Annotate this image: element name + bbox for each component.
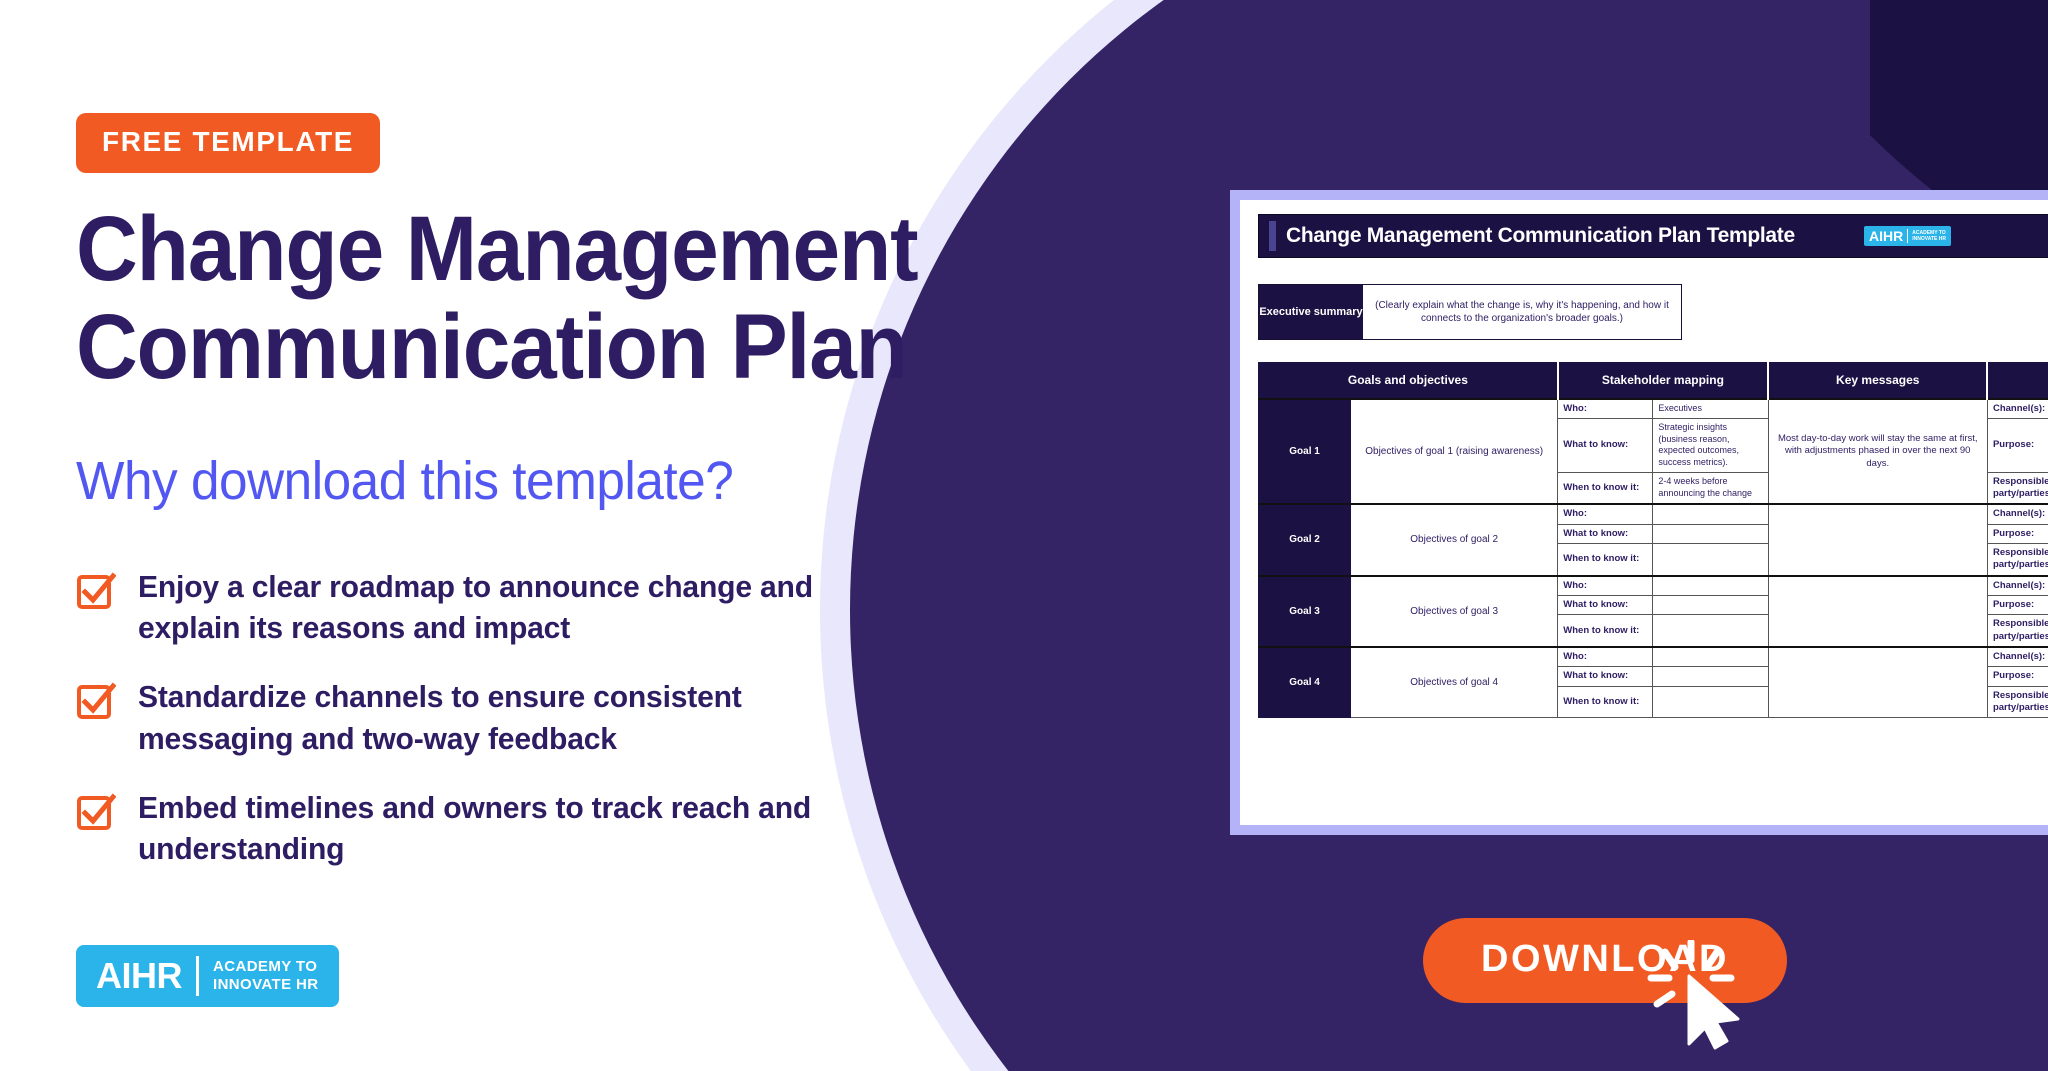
template-preview-inner: Change Management Communication Plan Tem… xyxy=(1240,200,2048,825)
column-header-channels: Communication channels xyxy=(1987,363,2048,399)
list-item: Standardize channels to ensure consisten… xyxy=(76,676,1136,758)
stakeholder-value-when[interactable] xyxy=(1653,615,1768,647)
promo-banner: FREE TEMPLATE Change Management Communic… xyxy=(0,0,2048,1071)
stakeholder-value-when[interactable] xyxy=(1653,686,1768,718)
stakeholder-value-what[interactable]: Strategic insights (business reason, exp… xyxy=(1653,418,1768,472)
left-content-column: FREE TEMPLATE Change Management Communic… xyxy=(76,0,1136,1071)
list-item-label: Enjoy a clear roadmap to announce change… xyxy=(138,566,817,648)
template-header-accent xyxy=(1269,221,1276,251)
stakeholder-value-who[interactable] xyxy=(1653,504,1768,524)
stakeholder-label-when: When to know it: xyxy=(1558,543,1653,575)
page-title-line1: Change Management xyxy=(76,201,1062,299)
stakeholder-label-who: Who: xyxy=(1558,399,1653,419)
background-corner-navy xyxy=(1870,0,2048,216)
page-title: Change Management Communication Plan xyxy=(76,201,1062,396)
stakeholder-value-when[interactable]: 2-4 weeks before announcing the change xyxy=(1653,472,1768,504)
goal-objectives[interactable]: Objectives of goal 4 xyxy=(1351,647,1558,718)
table-header-row: Goals and objectives Stakeholder mapping… xyxy=(1259,363,2048,399)
free-template-badge: FREE TEMPLATE xyxy=(76,113,380,173)
stakeholder-value-what[interactable] xyxy=(1653,667,1768,686)
stakeholder-label-when: When to know it: xyxy=(1558,615,1653,647)
column-header-goals: Goals and objectives xyxy=(1259,363,1558,399)
stakeholder-value-what[interactable] xyxy=(1653,596,1768,615)
stakeholder-value-who[interactable] xyxy=(1653,576,1768,596)
checkbox-checked-icon xyxy=(76,793,116,833)
stakeholder-label-who: Who: xyxy=(1558,647,1653,667)
aihr-logo-divider xyxy=(196,956,199,996)
channel-label-channels: Channel(s): xyxy=(1987,647,2048,667)
stakeholder-value-when[interactable] xyxy=(1653,543,1768,575)
list-item: Embed timelines and owners to track reac… xyxy=(76,787,1136,869)
table-row: Goal 3 Objectives of goal 3 Who: Channel… xyxy=(1259,576,2048,596)
channel-label-responsible: Responsible party/parties: xyxy=(1987,472,2048,504)
goal-label: Goal 4 xyxy=(1259,647,1351,718)
benefits-list: Enjoy a clear roadmap to announce change… xyxy=(76,566,1136,869)
communication-plan-table: Goals and objectives Stakeholder mapping… xyxy=(1258,362,2048,718)
template-aihr-divider xyxy=(1907,229,1908,243)
channel-label-purpose: Purpose: xyxy=(1987,524,2048,543)
checkbox-checked-icon xyxy=(76,572,116,612)
list-item-label: Standardize channels to ensure consisten… xyxy=(138,676,817,758)
table-row: Goal 4 Objectives of goal 4 Who: Channel… xyxy=(1259,647,2048,667)
table-row: Goal 2 Objectives of goal 2 Who: Channel… xyxy=(1259,504,2048,524)
stakeholder-label-who: Who: xyxy=(1558,576,1653,596)
goal-label: Goal 2 xyxy=(1259,504,1351,575)
stakeholder-label-what: What to know: xyxy=(1558,418,1653,472)
template-aihr-mark: AIHR xyxy=(1869,229,1903,243)
template-preview-card[interactable]: Change Management Communication Plan Tem… xyxy=(1230,190,2048,835)
stakeholder-value-who[interactable]: Executives xyxy=(1653,399,1768,419)
key-message-value[interactable] xyxy=(1768,576,1987,647)
key-message-value[interactable]: Most day-to-day work will stay the same … xyxy=(1768,399,1987,505)
channel-label-channels: Channel(s): xyxy=(1987,504,2048,524)
template-aihr-logo: AIHR ACADEMY TO INNOVATE HR xyxy=(1864,226,1951,246)
channel-label-channels: Channel(s): xyxy=(1987,576,2048,596)
goal-label: Goal 1 xyxy=(1259,399,1351,505)
stakeholder-value-what[interactable] xyxy=(1653,524,1768,543)
channel-label-channels: Channel(s): xyxy=(1987,399,2048,419)
goal-objectives[interactable]: Objectives of goal 1 (raising awareness) xyxy=(1351,399,1558,505)
list-item-label: Embed timelines and owners to track reac… xyxy=(138,787,817,869)
executive-summary-label: Executive summary xyxy=(1259,285,1363,339)
list-item: Enjoy a clear roadmap to announce change… xyxy=(76,566,1136,648)
key-message-value[interactable] xyxy=(1768,647,1987,718)
channel-label-purpose: Purpose: xyxy=(1987,596,2048,615)
column-header-key-messages: Key messages xyxy=(1768,363,1987,399)
executive-summary-value[interactable]: (Clearly explain what the change is, why… xyxy=(1363,285,1681,339)
stakeholder-label-when: When to know it: xyxy=(1558,472,1653,504)
aihr-logo-tagline-line2: INNOVATE HR xyxy=(213,976,319,994)
checkbox-checked-icon xyxy=(76,682,116,722)
download-cta: DOWNLOAD xyxy=(1423,918,1787,1003)
aihr-logo: AIHR ACADEMY TO INNOVATE HR xyxy=(76,945,339,1007)
background-corner-clip xyxy=(1870,0,2048,216)
channel-label-responsible: Responsible party/parties: xyxy=(1987,543,2048,575)
stakeholder-label-when: When to know it: xyxy=(1558,686,1653,718)
goal-label: Goal 3 xyxy=(1259,576,1351,647)
channel-label-responsible: Responsible party/parties: xyxy=(1987,615,2048,647)
stakeholder-value-who[interactable] xyxy=(1653,647,1768,667)
aihr-logo-mark: AIHR xyxy=(96,958,182,994)
page-title-line2: Communication Plan xyxy=(76,299,1062,397)
download-button[interactable]: DOWNLOAD xyxy=(1423,918,1787,1003)
template-aihr-tagline-line2: INNOVATE HR xyxy=(1912,236,1946,242)
stakeholder-label-what: What to know: xyxy=(1558,524,1653,543)
table-row: Goal 1 Objectives of goal 1 (raising awa… xyxy=(1259,399,2048,419)
template-header-bar: Change Management Communication Plan Tem… xyxy=(1258,214,2048,258)
channel-label-purpose: Purpose: xyxy=(1987,418,2048,472)
column-header-stakeholder: Stakeholder mapping xyxy=(1558,363,1768,399)
channel-label-responsible: Responsible party/parties: xyxy=(1987,686,2048,718)
aihr-logo-tagline: ACADEMY TO INNOVATE HR xyxy=(213,958,319,995)
key-message-value[interactable] xyxy=(1768,504,1987,575)
channel-label-purpose: Purpose: xyxy=(1987,667,2048,686)
goal-objectives[interactable]: Objectives of goal 2 xyxy=(1351,504,1558,575)
page-subtitle: Why download this template? xyxy=(76,450,1083,512)
aihr-logo-tagline-line1: ACADEMY TO xyxy=(213,958,319,976)
template-aihr-tagline: ACADEMY TO INNOVATE HR xyxy=(1912,230,1946,242)
stakeholder-label-what: What to know: xyxy=(1558,667,1653,686)
template-title: Change Management Communication Plan Tem… xyxy=(1286,224,1864,248)
stakeholder-label-what: What to know: xyxy=(1558,596,1653,615)
stakeholder-label-who: Who: xyxy=(1558,504,1653,524)
executive-summary-row: Executive summary (Clearly explain what … xyxy=(1258,284,1682,340)
goal-objectives[interactable]: Objectives of goal 3 xyxy=(1351,576,1558,647)
